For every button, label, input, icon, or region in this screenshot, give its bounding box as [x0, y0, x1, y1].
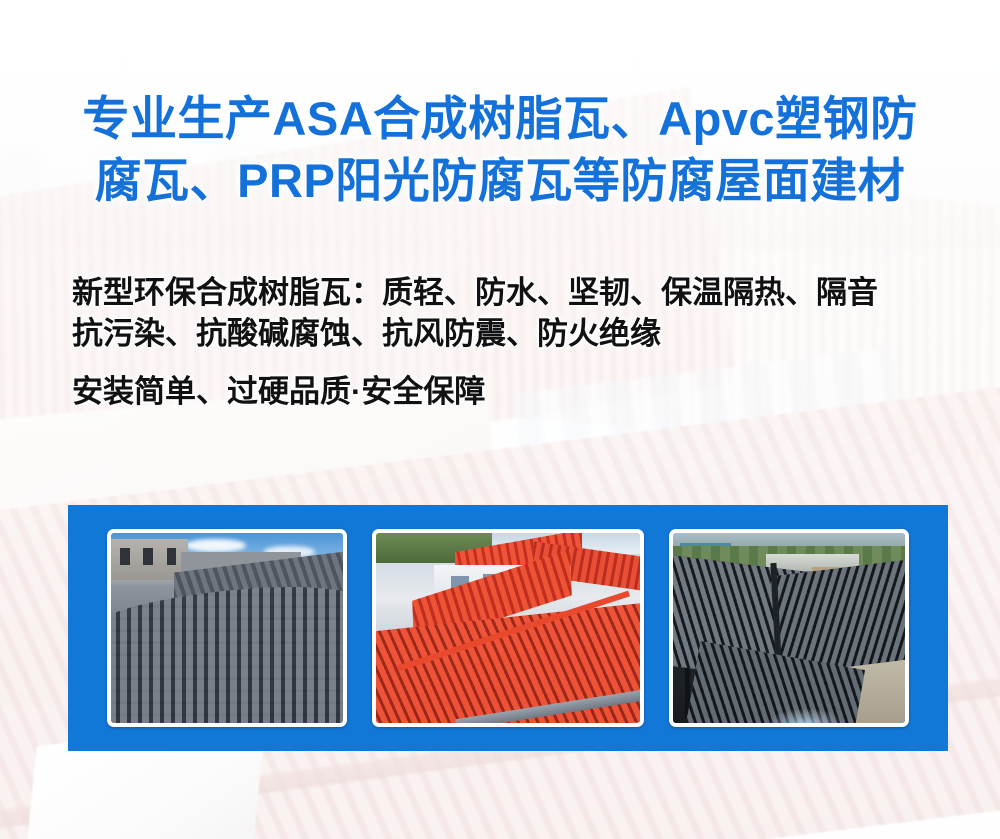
headline-line-2: 腐瓦、PRP阳光防腐瓦等防腐屋面建材 — [0, 150, 1000, 212]
photo1-window — [120, 548, 129, 565]
red-resin-tile-roof-image — [376, 533, 640, 723]
gallery-photo-3[interactable] — [669, 529, 909, 727]
photo1-main-tile-roof — [111, 580, 343, 723]
headline: 专业生产ASA合成树脂瓦、Apvc塑钢防 腐瓦、PRP阳光防腐瓦等防腐屋面建材 — [0, 88, 1000, 212]
gallery-photo-2[interactable] — [372, 529, 644, 727]
photo1-window — [167, 548, 176, 565]
black-resin-tile-roof-image — [673, 533, 905, 723]
photo3-lens-flare — [766, 708, 845, 723]
photo1-window — [143, 548, 152, 565]
subheadline: 新型环保合成树脂瓦：质轻、防水、坚韧、保温隔热、隔音 抗污染、抗酸碱腐蚀、抗风防… — [72, 272, 972, 412]
subheadline-line-1: 新型环保合成树脂瓦：质轻、防水、坚韧、保温隔热、隔音 — [72, 272, 972, 313]
subheadline-line-2: 抗污染、抗酸碱腐蚀、抗风防震、防火绝缘 — [72, 313, 972, 354]
product-banner: 专业生产ASA合成树脂瓦、Apvc塑钢防 腐瓦、PRP阳光防腐瓦等防腐屋面建材 … — [0, 0, 1000, 839]
photo-gallery-panel — [68, 505, 948, 751]
subheadline-line-3: 安装简单、过硬品质·安全保障 — [72, 371, 972, 412]
headline-line-1: 专业生产ASA合成树脂瓦、Apvc塑钢防 — [0, 88, 1000, 150]
gallery-photo-1[interactable] — [107, 529, 347, 727]
photo1-cloud — [185, 539, 245, 552]
grey-resin-tile-roof-image — [111, 533, 343, 723]
